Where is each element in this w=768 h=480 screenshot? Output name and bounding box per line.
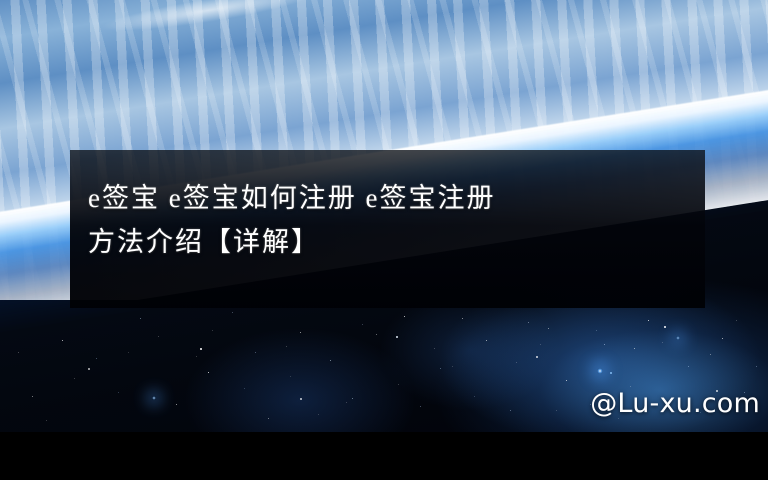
bottom-letterbox-bar xyxy=(0,432,768,480)
site-watermark: @Lu-xu.com xyxy=(590,388,760,419)
screenshot-canvas: e签宝 e签宝如何注册 e签宝注册 方法介绍【详解】 @Lu-xu.com xyxy=(0,0,768,480)
title-block: e签宝 e签宝如何注册 e签宝注册 方法介绍【详解】 xyxy=(88,176,688,264)
title-line-2: 方法介绍【详解】 xyxy=(88,220,688,264)
glowing-star-tertiary xyxy=(676,336,680,340)
glowing-star-secondary xyxy=(152,396,156,400)
title-line-1: e签宝 e签宝如何注册 e签宝注册 xyxy=(88,176,688,220)
glowing-star-primary xyxy=(597,368,603,374)
